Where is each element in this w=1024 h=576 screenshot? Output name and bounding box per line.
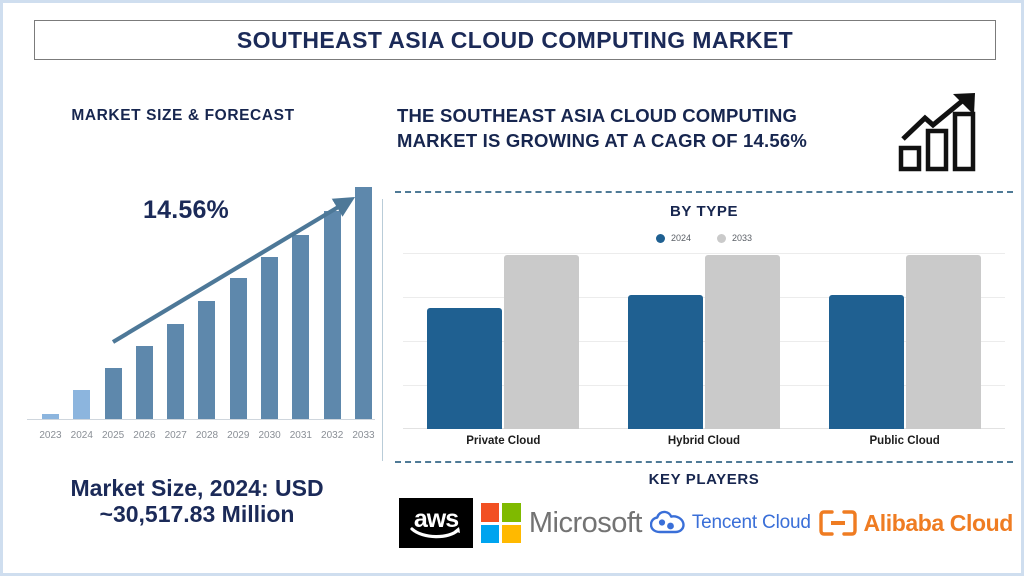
by-type-heading: BY TYPE xyxy=(395,203,1013,220)
tencent-cloud-icon xyxy=(650,510,686,536)
forecast-year-label: 2032 xyxy=(317,430,348,441)
forecast-bar xyxy=(292,235,309,419)
forecast-year-axis: 2023202420252026202720282029203020312032… xyxy=(35,430,379,441)
forecast-year-label: 2029 xyxy=(223,430,254,441)
forecast-bars xyxy=(35,185,379,419)
by-type-bar xyxy=(705,255,780,429)
page-title: SOUTHEAST ASIA CLOUD COMPUTING MARKET xyxy=(237,27,793,54)
right-panel: THE SOUTHEAST ASIA CLOUD COMPUTING MARKE… xyxy=(395,83,1017,569)
forecast-bar xyxy=(136,346,153,419)
forecast-year-label: 2025 xyxy=(98,430,129,441)
forecast-year-label: 2031 xyxy=(285,430,316,441)
forecast-bar-column xyxy=(317,185,348,419)
forecast-bar-column xyxy=(223,185,254,419)
by-type-legend: 20242033 xyxy=(395,233,1013,243)
divider-top xyxy=(395,191,1013,193)
forecast-bar-column xyxy=(66,185,97,419)
by-type-bar-group xyxy=(416,253,591,429)
market-size-forecast-heading: MARKET SIZE & FORECAST xyxy=(13,107,353,125)
forecast-year-label: 2023 xyxy=(35,430,66,441)
market-size-forecast-panel: MARKET SIZE & FORECAST 14.56% 2023202420… xyxy=(13,83,381,563)
market-size-line-1: Market Size, 2024: USD xyxy=(13,475,381,501)
forecast-bar xyxy=(355,187,372,419)
aws-logo: aws xyxy=(399,498,473,548)
by-type-category-labels: Private CloudHybrid CloudPublic Cloud xyxy=(403,435,1005,447)
forecast-bar-column xyxy=(98,185,129,419)
by-type-bar xyxy=(504,255,579,429)
market-size-line-2: ~30,517.83 Million xyxy=(13,501,381,527)
by-type-category-label: Private Cloud xyxy=(416,435,591,447)
by-type-bar-groups xyxy=(403,253,1005,429)
legend-dot-icon xyxy=(656,234,665,243)
bar-chart-growth-icon xyxy=(895,91,987,173)
alibaba-cloud-icon xyxy=(819,510,857,536)
by-type-bar xyxy=(427,308,502,429)
by-type-category-label: Hybrid Cloud xyxy=(616,435,791,447)
forecast-bar xyxy=(230,278,247,419)
by-type-bar xyxy=(628,295,703,429)
forecast-year-label: 2024 xyxy=(66,430,97,441)
divider-bottom xyxy=(395,461,1013,463)
forecast-bar xyxy=(73,390,90,419)
forecast-bar xyxy=(167,324,184,419)
by-type-bar xyxy=(906,255,981,429)
tencent-cloud-logo: Tencent Cloud xyxy=(650,510,811,536)
by-type-bar-group xyxy=(817,253,992,429)
forecast-bar xyxy=(42,414,59,419)
legend-dot-icon xyxy=(717,234,726,243)
forecast-bar xyxy=(261,257,278,419)
market-size-forecast-chart: 2023202420252026202720282029203020312032… xyxy=(27,183,382,441)
forecast-bar xyxy=(324,211,341,419)
by-type-bar-group xyxy=(616,253,791,429)
forecast-year-label: 2026 xyxy=(129,430,160,441)
microsoft-squares-icon xyxy=(481,503,521,543)
forecast-bar-column xyxy=(285,185,316,419)
microsoft-wordmark: Microsoft xyxy=(529,507,642,540)
forecast-bar xyxy=(105,368,122,419)
forecast-year-label: 2028 xyxy=(191,430,222,441)
forecast-bar-column xyxy=(191,185,222,419)
forecast-bar-column xyxy=(254,185,285,419)
tencent-cloud-wordmark: Tencent Cloud xyxy=(692,512,811,534)
forecast-year-label: 2033 xyxy=(348,430,379,441)
forecast-year-label: 2030 xyxy=(254,430,285,441)
alibaba-cloud-wordmark: Alibaba Cloud xyxy=(864,510,1013,537)
by-type-category-label: Public Cloud xyxy=(817,435,992,447)
alibaba-cloud-logo: Alibaba Cloud xyxy=(819,510,1013,537)
panel-divider xyxy=(382,199,383,461)
by-type-chart xyxy=(403,253,1005,429)
forecast-bar-column xyxy=(35,185,66,419)
by-type-bar xyxy=(829,295,904,429)
forecast-bar-column xyxy=(160,185,191,419)
market-size-2024-value: Market Size, 2024: USD ~30,517.83 Millio… xyxy=(13,475,381,528)
legend-item[interactable]: 2033 xyxy=(717,233,752,243)
legend-label: 2024 xyxy=(671,233,691,243)
legend-item[interactable]: 2024 xyxy=(656,233,691,243)
chart-baseline xyxy=(27,419,375,420)
forecast-bar-column xyxy=(348,185,379,419)
forecast-bar xyxy=(198,301,215,419)
headline-text: THE SOUTHEAST ASIA CLOUD COMPUTING MARKE… xyxy=(397,103,877,153)
microsoft-logo: Microsoft xyxy=(481,503,642,543)
legend-label: 2033 xyxy=(732,233,752,243)
page-title-box: SOUTHEAST ASIA CLOUD COMPUTING MARKET xyxy=(34,20,996,60)
forecast-year-label: 2027 xyxy=(160,430,191,441)
key-players-logos: aws Microsoft xyxy=(399,495,1013,551)
key-players-heading: KEY PLAYERS xyxy=(395,471,1013,488)
forecast-bar-column xyxy=(129,185,160,419)
aws-smile-icon xyxy=(410,526,462,540)
infographic-page: SOUTHEAST ASIA CLOUD COMPUTING MARKET MA… xyxy=(0,0,1024,576)
